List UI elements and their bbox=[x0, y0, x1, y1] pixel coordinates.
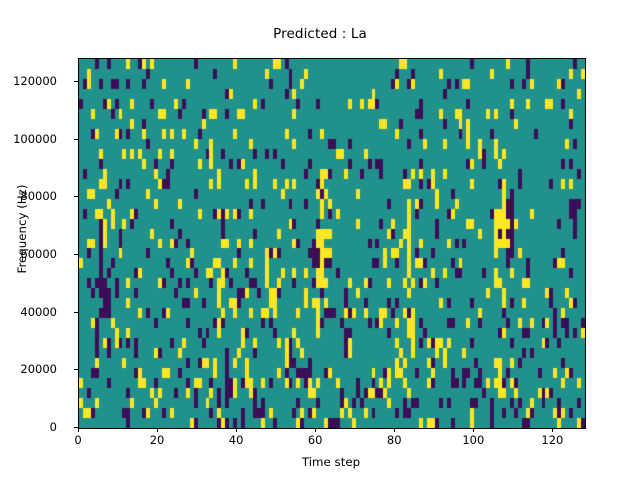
x-tick-label: 40 bbox=[206, 433, 266, 447]
y-tick-mark bbox=[74, 312, 78, 313]
y-tick-mark bbox=[74, 139, 78, 140]
y-tick-label: 120000 bbox=[13, 74, 57, 88]
x-tick-mark bbox=[315, 428, 316, 432]
x-tick-mark bbox=[236, 428, 237, 432]
y-tick-mark bbox=[74, 369, 78, 370]
x-tick-label: 20 bbox=[127, 433, 187, 447]
x-tick-mark bbox=[78, 428, 79, 432]
x-tick-mark bbox=[473, 428, 474, 432]
y-tick-label: 20000 bbox=[20, 362, 57, 376]
matplotlib-figure: Predicted : La Frequency (Hz) Time step … bbox=[0, 0, 640, 480]
x-tick-label: 120 bbox=[522, 433, 582, 447]
y-tick-label: 100000 bbox=[13, 132, 57, 146]
x-tick-label: 100 bbox=[443, 433, 503, 447]
x-axis-label: Time step bbox=[78, 455, 584, 469]
x-tick-mark bbox=[394, 428, 395, 432]
y-tick-label: 40000 bbox=[20, 305, 57, 319]
heatmap-axes bbox=[78, 58, 586, 429]
y-tick-label: 0 bbox=[50, 420, 57, 434]
x-tick-mark bbox=[157, 428, 158, 432]
heatmap-image bbox=[79, 59, 585, 428]
y-tick-label: 60000 bbox=[20, 247, 57, 261]
chart-title: Predicted : La bbox=[0, 26, 640, 42]
x-tick-mark bbox=[552, 428, 553, 432]
y-tick-mark bbox=[74, 81, 78, 82]
x-tick-label: 80 bbox=[364, 433, 424, 447]
y-tick-mark bbox=[74, 196, 78, 197]
x-tick-label: 60 bbox=[285, 433, 345, 447]
x-tick-label: 0 bbox=[48, 433, 108, 447]
y-tick-mark bbox=[74, 254, 78, 255]
y-tick-label: 80000 bbox=[20, 189, 57, 203]
